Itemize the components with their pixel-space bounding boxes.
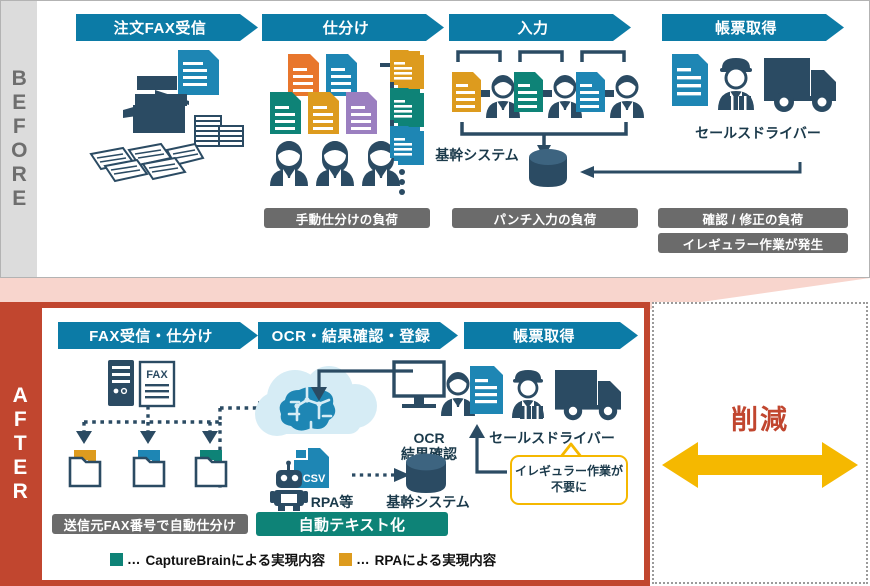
legend-label-rpa: RPAによる実現内容 (375, 549, 497, 569)
after-tag-auto-text: 自動テキスト化 (256, 512, 448, 536)
callout-line2: 不要に (551, 480, 587, 494)
legend-swatch-capturebrain (110, 553, 123, 566)
legend-dots-rpa: … (356, 552, 371, 567)
after-tag-auto-sorting: 送信元FAX番号で自動仕分け (52, 514, 248, 534)
after-rpa-label: RPA等 (300, 494, 364, 510)
reduction-label: 削減 (652, 398, 868, 437)
legend-label-capturebrain: CaptureBrainによる実現内容 (146, 549, 326, 569)
after-step-2-label: OCR・結果確認・登録 (258, 322, 458, 349)
before-step-1-banner: 注文FAX受信 (76, 14, 258, 41)
svg-text:CSV: CSV (303, 473, 326, 485)
double-arrow-horizontal-icon (662, 438, 858, 492)
callout-line1: イレギュラー作業が (515, 464, 623, 478)
before-step-4-label: 帳票取得 (662, 14, 844, 41)
after-step-1-banner: FAX受信・仕分け (58, 322, 258, 349)
before-rail-label: BEFORE (7, 67, 31, 211)
sorted-document-stacks (388, 50, 436, 190)
before-step-4-banner: 帳票取得 (662, 14, 844, 41)
before-section-rail: BEFORE (1, 1, 37, 277)
after-section-rail: AFTER (0, 302, 40, 586)
after-core-system-database-icon (404, 452, 452, 494)
before-tag-check-fix: 確認 / 修正の負荷 (658, 208, 848, 228)
legend-item-rpa: … RPAによる実現内容 (339, 549, 496, 569)
after-rail-label: AFTER (8, 384, 32, 504)
before-step-3-banner: 入力 (449, 14, 631, 41)
legend: … CaptureBrainによる実現内容 … RPAによる実現内容 (110, 548, 630, 570)
after-step-1-label: FAX受信・仕分け (58, 322, 258, 349)
before-tag-manual-sorting: 手動仕分けの負荷 (264, 208, 430, 228)
after-step-2-banner: OCR・結果確認・登録 (258, 322, 458, 349)
svg-text:FAX: FAX (146, 369, 168, 381)
before-step-2-banner: 仕分け (262, 14, 444, 41)
before-tag-irregular-work: イレギュラー作業が発生 (658, 233, 848, 253)
before-step-2-label: 仕分け (262, 14, 444, 41)
after-step-3-banner: 帳票取得 (464, 322, 638, 349)
after-step-3-label: 帳票取得 (464, 322, 638, 349)
after-ocr-check-line1: OCR (413, 430, 444, 446)
before-step-1-label: 注文FAX受信 (76, 14, 258, 41)
after-core-system-label: 基幹システム (370, 494, 486, 510)
legend-item-capturebrain: … CaptureBrainによる実現内容 (110, 549, 325, 569)
before-feedback-arrow (576, 158, 806, 190)
irregular-work-callout: イレギュラー作業が 不要に (510, 455, 628, 505)
legend-swatch-rpa (339, 553, 352, 566)
fax-machine-illustration (85, 50, 260, 185)
legend-dots-capturebrain: … (127, 552, 142, 567)
core-system-database-icon (527, 148, 573, 188)
after-sales-driver-delivery-illustration (470, 364, 632, 436)
before-sales-driver-label: セールスドライバー (672, 125, 844, 141)
before-step-3-label: 入力 (449, 14, 631, 41)
before-tag-punch-input: パンチ入力の負荷 (452, 208, 638, 228)
after-sales-driver-label: セールスドライバー (468, 430, 636, 446)
sales-driver-delivery-illustration (672, 52, 844, 128)
